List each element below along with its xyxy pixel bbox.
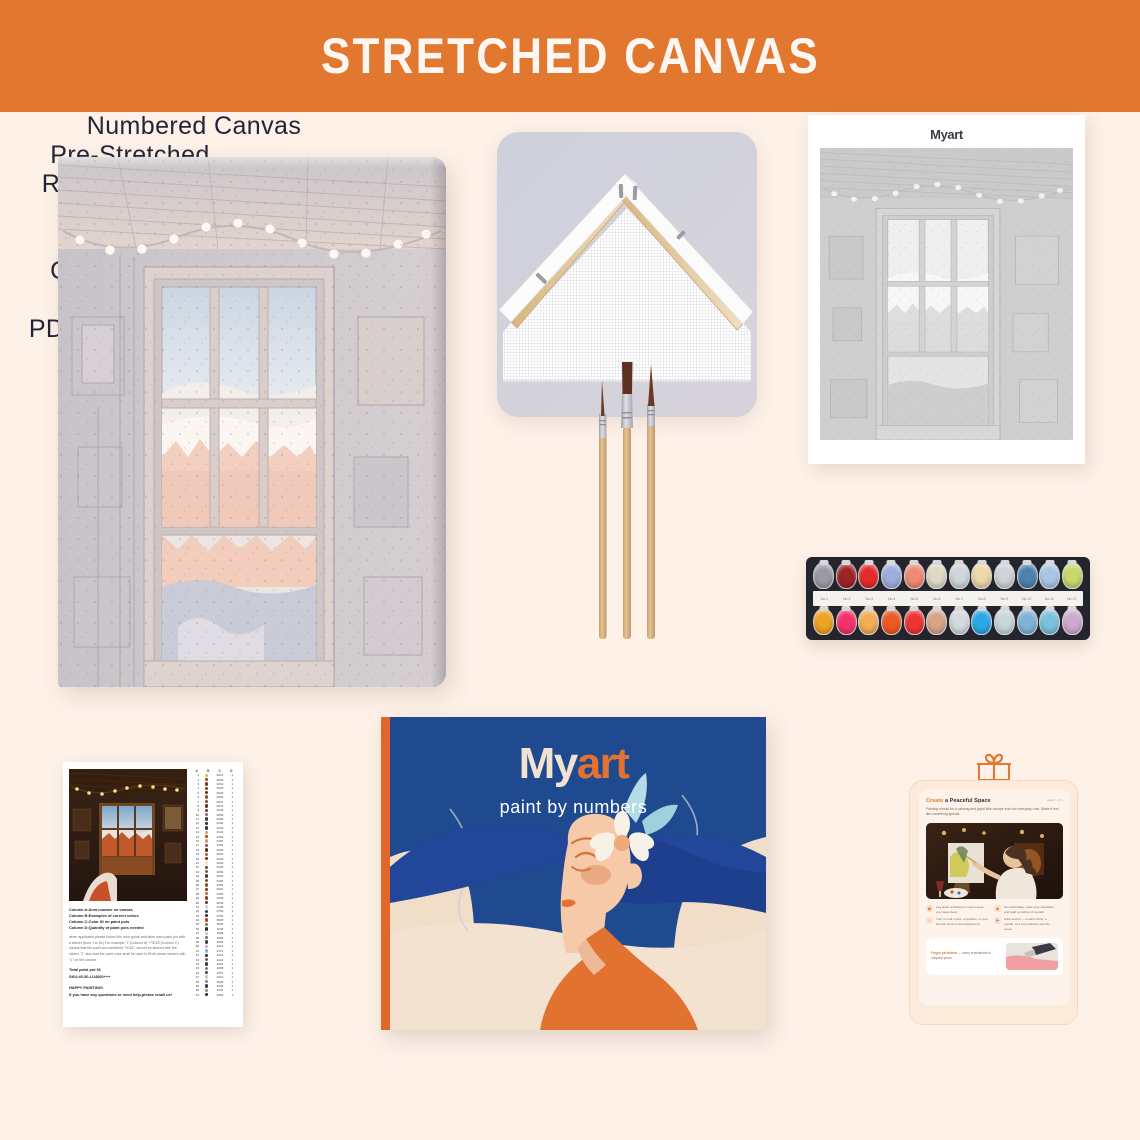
color-swatch <box>205 791 208 794</box>
color-swatch <box>205 984 208 987</box>
color-swatch-cell <box>201 874 212 877</box>
paint-pot-number: No.8 <box>971 597 994 601</box>
color-swatch <box>205 883 208 886</box>
color-swatch-cell <box>201 844 212 847</box>
color-swatch-cell <box>201 866 212 869</box>
color-card-table: A B C D 10014120018130019140020150023160… <box>191 769 237 1020</box>
paint-pot-row-bottom <box>810 608 1086 635</box>
color-swatch <box>205 975 208 978</box>
pdf-tip-item: ☕Add comfort — a warm drink, a candle, o… <box>994 917 1057 931</box>
pot-quantity: 1 <box>228 993 237 997</box>
color-table-row: 5123601 <box>191 993 237 997</box>
color-swatch <box>205 910 208 913</box>
color-swatch-cell <box>201 962 212 965</box>
box-tagline: paint by numbers <box>381 797 766 818</box>
color-table-rows: 1001412001813001914002015002316002617003… <box>191 773 237 997</box>
callout-accent-text: Forget perfection <box>931 951 957 955</box>
paint-pot-number: No.5 <box>903 597 926 601</box>
color-swatch-cell <box>201 989 212 992</box>
paint-pot <box>1039 608 1060 635</box>
color-swatch <box>205 866 208 869</box>
paint-pot <box>1017 562 1038 589</box>
color-swatch <box>205 918 208 921</box>
reference-sheet-image: Myart <box>808 115 1085 464</box>
paint-pot <box>904 608 925 635</box>
color-swatch-cell <box>201 980 212 983</box>
paint-pot <box>971 608 992 635</box>
pdf-heading-rest: a Peaceful Space <box>943 798 990 804</box>
acrylic-paints-image: No.1No.2No.3No.4No.5No.6No.7No.8No.9No.1… <box>806 557 1090 640</box>
color-swatch-cell <box>201 901 212 904</box>
paint-pot-label-strip: No.1No.2No.3No.4No.5No.6No.7No.8No.9No.1… <box>813 591 1083 606</box>
color-swatch-cell <box>201 800 212 803</box>
color-swatch <box>205 857 208 860</box>
color-swatch <box>205 936 208 939</box>
color-swatch-cell <box>201 936 212 939</box>
color-swatch-cell <box>201 905 212 908</box>
color-swatch-cell <box>201 918 212 921</box>
paint-pot <box>813 562 834 589</box>
pdf-subtitle: Painting should be a calming and joyful … <box>926 807 1063 818</box>
color-swatch <box>205 927 208 930</box>
paint-pot <box>1062 562 1083 589</box>
grayscale-window-art <box>820 148 1073 440</box>
brushes-image <box>575 352 685 647</box>
color-swatch-cell <box>201 817 212 820</box>
woman-painting-photo <box>926 823 1063 899</box>
logo-my-text: My <box>519 739 577 788</box>
color-swatch <box>205 967 208 970</box>
color-swatch-cell <box>201 940 212 943</box>
color-swatch-cell <box>201 870 212 873</box>
tip-icon: ♪ <box>926 917 933 924</box>
pdf-tips-list: ▣Lay down a blanket or mat to keep your … <box>926 905 1063 932</box>
color-swatch <box>205 980 208 983</box>
color-swatch <box>205 892 208 895</box>
color-card-image: Column A:Area number on canvas Column B:… <box>63 762 243 1027</box>
color-swatch-cell <box>201 826 212 829</box>
legend-line: Column D:Quantity of paint pots needed <box>69 925 187 931</box>
paint-pot-number: No.9 <box>993 597 1016 601</box>
color-swatch <box>205 831 208 834</box>
pdf-heading: page 1 of 1 Create a Peaceful Space <box>926 798 1063 804</box>
color-swatch-cell <box>201 971 212 974</box>
paint-pot <box>926 608 947 635</box>
color-swatch-cell <box>201 984 212 987</box>
color-swatch-cell <box>201 949 212 952</box>
sku-code: SKU:40-50-LU4000+++ <box>69 974 187 981</box>
paint-pot <box>971 562 992 589</box>
color-swatch-cell <box>201 923 212 926</box>
page-header: STRETCHED CANVAS <box>0 0 1140 112</box>
numbered-canvas-image <box>58 157 446 687</box>
color-swatch-cell <box>201 883 212 886</box>
color-swatch-cell <box>201 892 212 895</box>
tip-icon: ◉ <box>994 905 1001 912</box>
paint-pot <box>858 562 879 589</box>
color-swatch <box>205 817 208 820</box>
color-swatch-cell <box>201 791 212 794</box>
tip-icon: ▣ <box>926 905 933 912</box>
paint-pot-number: No.4 <box>881 597 904 601</box>
color-swatch <box>205 962 208 965</box>
callout-thumbnail <box>1006 943 1058 970</box>
full-color-window-art <box>69 769 187 901</box>
color-swatch-cell <box>201 927 212 930</box>
pdf-callout: Forget perfection — every brushstroke is… <box>926 938 1063 975</box>
color-swatch-cell <box>201 993 212 996</box>
pdf-heading-accent: Create <box>926 798 943 804</box>
color-swatch-cell <box>201 848 212 851</box>
paint-pot <box>836 562 857 589</box>
color-swatch <box>205 800 208 803</box>
color-swatch <box>205 954 208 957</box>
color-swatch-cell <box>201 975 212 978</box>
color-card-left: Column A:Area number on canvas Column B:… <box>69 769 187 1020</box>
pdf-guide-card: page 1 of 1 Create a Peaceful Space Pain… <box>909 780 1078 1025</box>
color-swatch-cell <box>201 787 212 790</box>
color-swatch <box>205 826 208 829</box>
color-swatch-cell <box>201 857 212 860</box>
canvas-edge-highlight <box>58 157 446 167</box>
brush-flat <box>621 362 633 639</box>
color-swatch <box>205 945 208 948</box>
color-swatch <box>205 879 208 882</box>
color-swatch-cell <box>201 896 212 899</box>
brush-medium-round <box>647 364 655 639</box>
color-swatch <box>205 782 208 785</box>
total-paint-pots: Total paint pot 51 <box>69 967 187 974</box>
color-swatch <box>205 804 208 807</box>
tip-text: Turn on soft music, a podcast, or your f… <box>936 917 989 931</box>
myart-box-image: Myart paint by numbers <box>381 717 766 1030</box>
color-swatch <box>205 774 208 777</box>
paint-pot <box>1039 562 1060 589</box>
color-swatch-cell <box>201 888 212 891</box>
paint-pot-number: No.3 <box>858 597 881 601</box>
color-swatch-cell <box>201 774 212 777</box>
paint-pot-number: No.6 <box>926 597 949 601</box>
color-swatch-cell <box>201 782 212 785</box>
paint-pot <box>1062 608 1083 635</box>
gift-icon <box>975 752 1013 782</box>
product-grid: Numbered Canvas <box>0 112 1140 1140</box>
paint-pot-number: No.12 <box>1061 597 1084 601</box>
paint-pot <box>994 562 1015 589</box>
paint-pot <box>836 608 857 635</box>
color-swatch <box>205 958 208 961</box>
canvas-edge-shadow <box>430 157 446 687</box>
color-swatch <box>205 971 208 974</box>
paint-pot-number: No.11 <box>1038 597 1061 601</box>
color-swatch <box>205 848 208 851</box>
color-swatch <box>205 901 208 904</box>
pbn-window-artwork <box>58 157 446 687</box>
paint-pot <box>949 562 970 589</box>
brush-thin-round <box>599 380 607 639</box>
color-swatch <box>205 874 208 877</box>
color-swatch-cell <box>201 822 212 825</box>
color-swatch-cell <box>201 835 212 838</box>
color-swatch <box>205 835 208 838</box>
color-swatch-cell <box>201 932 212 935</box>
color-swatch <box>205 870 208 873</box>
tip-text: Add comfort — a warm drink, a candle, or… <box>1004 917 1057 931</box>
page-title: STRETCHED CANVAS <box>321 27 820 85</box>
color-swatch-cell <box>201 879 212 882</box>
color-swatch-cell <box>201 778 212 781</box>
brush-stroke-photo <box>1006 943 1058 970</box>
paint-pot-number: No.2 <box>836 597 859 601</box>
paint-pot <box>881 562 902 589</box>
reference-sheet-logo: Myart <box>820 127 1073 142</box>
pdf-guide-page: page 1 of 1 Create a Peaceful Space Pain… <box>919 790 1070 1005</box>
color-swatch <box>205 993 208 996</box>
color-swatch-cell <box>201 831 212 834</box>
color-swatch-cell <box>201 958 212 961</box>
paint-pot <box>1017 608 1038 635</box>
area-number: 51 <box>191 993 201 997</box>
color-swatch <box>205 809 208 812</box>
paint-pot-number: No.10 <box>1016 597 1039 601</box>
color-swatch-cell <box>201 839 212 842</box>
paint-pot <box>949 608 970 635</box>
tip-icon: ☕ <box>994 917 1001 924</box>
color-swatch-cell <box>201 795 212 798</box>
color-swatch-cell <box>201 910 212 913</box>
color-card-legend: Column A:Area number on canvas Column B:… <box>69 907 187 931</box>
color-id: 2360 <box>212 993 228 997</box>
color-swatch-cell <box>201 967 212 970</box>
color-swatch <box>205 989 208 992</box>
color-swatch <box>205 822 208 825</box>
color-swatch <box>205 923 208 926</box>
paint-pot-row-top <box>810 562 1086 589</box>
color-swatch-cell <box>201 954 212 957</box>
color-swatch <box>205 940 208 943</box>
color-swatch <box>205 949 208 952</box>
color-swatch <box>205 787 208 790</box>
color-swatch-cell <box>201 804 212 807</box>
pdf-tip-item: ◉Sit comfortably, relax your shoulders, … <box>994 905 1057 915</box>
color-swatch-cell <box>201 853 212 856</box>
numbered-canvas-label: Numbered Canvas <box>0 112 388 141</box>
color-card-photo <box>69 769 187 901</box>
paint-pot-number: No.1 <box>813 597 836 601</box>
paint-pot-number: No.7 <box>948 597 971 601</box>
paint-pot <box>994 608 1015 635</box>
color-swatch <box>205 861 208 864</box>
color-swatch <box>205 853 208 856</box>
color-swatch <box>205 888 208 891</box>
color-swatch <box>205 813 208 816</box>
color-swatch-cell <box>201 945 212 948</box>
color-swatch <box>205 914 208 917</box>
happy-painting-text: HAPPY PAINTING! <box>69 985 187 992</box>
pdf-tip-item: ▣Lay down a blanket or mat to keep your … <box>926 905 989 915</box>
color-swatch <box>205 932 208 935</box>
color-swatch <box>205 844 208 847</box>
pdf-guide-image: page 1 of 1 Create a Peaceful Space Pain… <box>901 752 1086 1030</box>
paint-pot <box>904 562 925 589</box>
logo-art-text: art <box>577 739 629 788</box>
color-swatch <box>205 839 208 842</box>
color-swatch-cell <box>201 813 212 816</box>
paint-pot <box>926 562 947 589</box>
pdf-photo <box>926 823 1063 899</box>
color-swatch <box>205 795 208 798</box>
pdf-page-number: page 1 of 1 <box>1047 798 1063 802</box>
tip-text: Lay down a blanket or mat to keep your a… <box>936 905 989 915</box>
contact-text: If you have any questions or need help,p… <box>69 992 187 999</box>
color-card-instructions: when applicable,please follow this color… <box>69 935 187 963</box>
paint-pot <box>813 608 834 635</box>
tip-text: Sit comfortably, relax your shoulders, a… <box>1004 905 1057 915</box>
color-swatch-cell <box>201 914 212 917</box>
reference-sheet-artwork <box>820 148 1073 440</box>
color-swatch <box>205 896 208 899</box>
three-brushes <box>575 352 685 647</box>
color-swatch <box>205 905 208 908</box>
paint-pot <box>881 608 902 635</box>
color-swatch-cell <box>201 809 212 812</box>
color-swatch <box>205 778 208 781</box>
myart-logo: Myart <box>381 739 766 789</box>
pdf-tip-item: ♪Turn on soft music, a podcast, or your … <box>926 917 989 931</box>
color-swatch-cell <box>201 861 212 864</box>
paint-pot <box>858 608 879 635</box>
